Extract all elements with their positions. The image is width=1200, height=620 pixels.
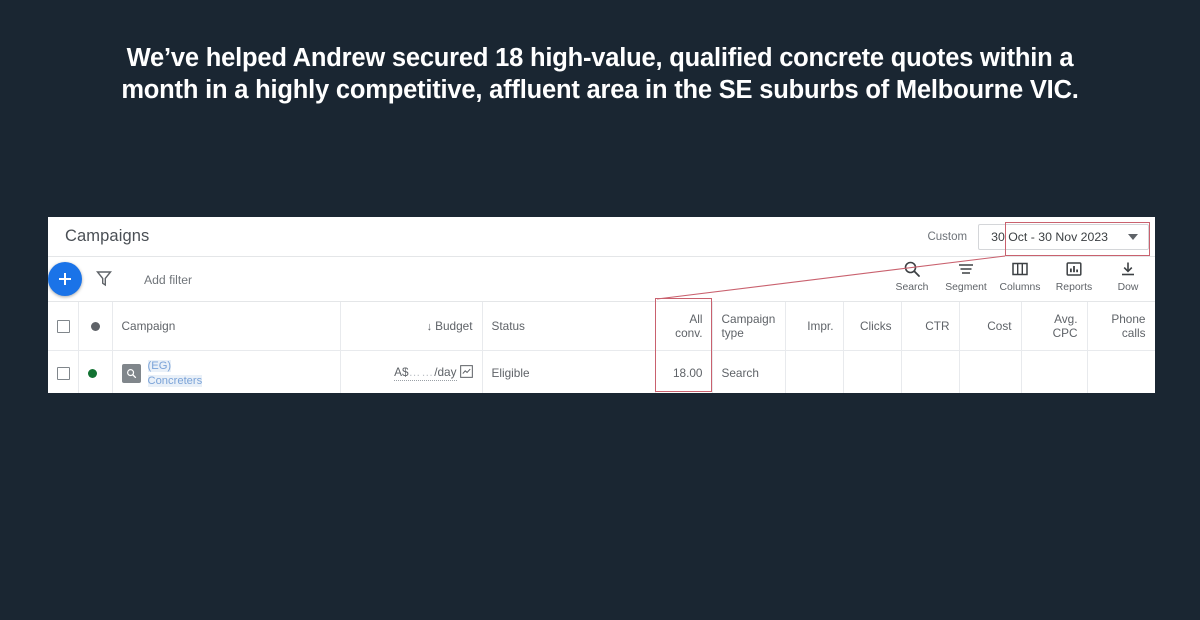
header-clicks[interactable]: Clicks	[843, 302, 901, 350]
row-clicks	[843, 350, 901, 393]
reports-icon	[1065, 260, 1083, 278]
chevron-down-icon	[1128, 234, 1138, 240]
header-campaign-type[interactable]: Campaign type	[712, 302, 785, 350]
table-row: (EG) Concreters A$……/day	[48, 350, 1155, 393]
headline-line-2: month in a highly competitive, affluent …	[24, 74, 1176, 106]
header-cost[interactable]: Cost	[959, 302, 1021, 350]
status-dot-icon	[88, 369, 97, 378]
toolbar-actions: Search Segment	[885, 260, 1155, 293]
budget-suffix: /day	[434, 365, 456, 379]
row-checkbox[interactable]	[48, 350, 78, 393]
row-avg-cpc	[1021, 350, 1087, 393]
status-dot-icon	[91, 322, 100, 331]
budget-value[interactable]: A$……/day	[394, 365, 456, 381]
header-ctr[interactable]: CTR	[901, 302, 959, 350]
header-status-dot	[78, 302, 112, 350]
header-campaign[interactable]: Campaign	[112, 302, 340, 350]
toolbar-label: Reports	[1056, 282, 1092, 293]
header-budget-label: Budget	[435, 319, 472, 333]
page-title: Campaigns	[65, 227, 149, 246]
campaigns-table: Campaign ↓Budget Status All conv. Campai…	[48, 302, 1155, 393]
segment-icon	[957, 260, 975, 278]
date-range-selector[interactable]: 30 Oct - 30 Nov 2023	[978, 224, 1149, 250]
campaign-name-line-1: (EG)	[148, 360, 172, 372]
row-status: Eligible	[482, 350, 655, 393]
toolbar-label: Search	[896, 282, 929, 293]
row-cost	[959, 350, 1021, 393]
plus-icon	[57, 271, 73, 287]
row-impr	[785, 350, 843, 393]
row-status-dot	[78, 350, 112, 393]
toolbar-item-download[interactable]: Dow	[1101, 260, 1155, 293]
header-avg-cpc[interactable]: Avg. CPC	[1021, 302, 1087, 350]
header-phone-calls[interactable]: Phone calls	[1087, 302, 1155, 350]
toolbar-item-columns[interactable]: Columns	[993, 260, 1047, 293]
toolbar-label: Segment	[945, 282, 987, 293]
toolbar-item-search[interactable]: Search	[885, 260, 939, 293]
header-impr[interactable]: Impr.	[785, 302, 843, 350]
date-range-area: Custom 30 Oct - 30 Nov 2023	[927, 217, 1149, 256]
header-select-all[interactable]	[48, 302, 78, 350]
page-headline: We’ve helped Andrew secured 18 high-valu…	[0, 42, 1200, 106]
headline-line-1: We’ve helped Andrew secured 18 high-valu…	[24, 42, 1176, 74]
search-campaign-icon	[122, 364, 141, 383]
toolbar-label: Columns	[1000, 282, 1041, 293]
table-header-row: Campaign ↓Budget Status All conv. Campai…	[48, 302, 1155, 350]
funnel-icon[interactable]	[96, 270, 112, 292]
google-ads-screenshot-panel: Campaigns Custom 30 Oct - 30 Nov 2023 Ad…	[48, 217, 1155, 393]
panel-toolbar: Add filter Search	[48, 257, 1155, 302]
add-campaign-button[interactable]	[48, 262, 82, 296]
toolbar-label: Dow	[1118, 282, 1139, 293]
add-filter-label[interactable]: Add filter	[144, 273, 192, 287]
budget-redacted-amount: ……	[409, 365, 435, 379]
toolbar-item-segment[interactable]: Segment	[939, 260, 993, 293]
toolbar-item-reports[interactable]: Reports	[1047, 260, 1101, 293]
checkbox-icon[interactable]	[57, 320, 70, 333]
date-range-value: 30 Oct - 30 Nov 2023	[991, 230, 1108, 244]
panel-title-bar: Campaigns Custom 30 Oct - 30 Nov 2023	[48, 217, 1155, 257]
row-campaign: (EG) Concreters	[112, 350, 340, 393]
row-budget[interactable]: A$……/day	[340, 350, 482, 393]
row-all-conv: 18.00	[655, 350, 712, 393]
row-ctr	[901, 350, 959, 393]
custom-range-label: Custom	[927, 231, 967, 243]
row-campaign-type: Search	[712, 350, 785, 393]
header-status[interactable]: Status	[482, 302, 655, 350]
budget-currency: A$	[394, 365, 408, 379]
checkbox-icon[interactable]	[57, 367, 70, 380]
campaign-name-link[interactable]: (EG) Concreters	[148, 358, 203, 388]
line-chart-icon[interactable]	[460, 365, 473, 381]
header-all-conv[interactable]: All conv.	[655, 302, 712, 350]
sort-arrow-icon: ↓	[427, 321, 433, 333]
download-icon	[1119, 260, 1137, 278]
header-budget[interactable]: ↓Budget	[340, 302, 482, 350]
campaign-name-line-2: Concreters	[148, 375, 203, 387]
columns-icon	[1011, 260, 1029, 278]
row-phone-calls	[1087, 350, 1155, 393]
search-icon	[903, 260, 921, 278]
